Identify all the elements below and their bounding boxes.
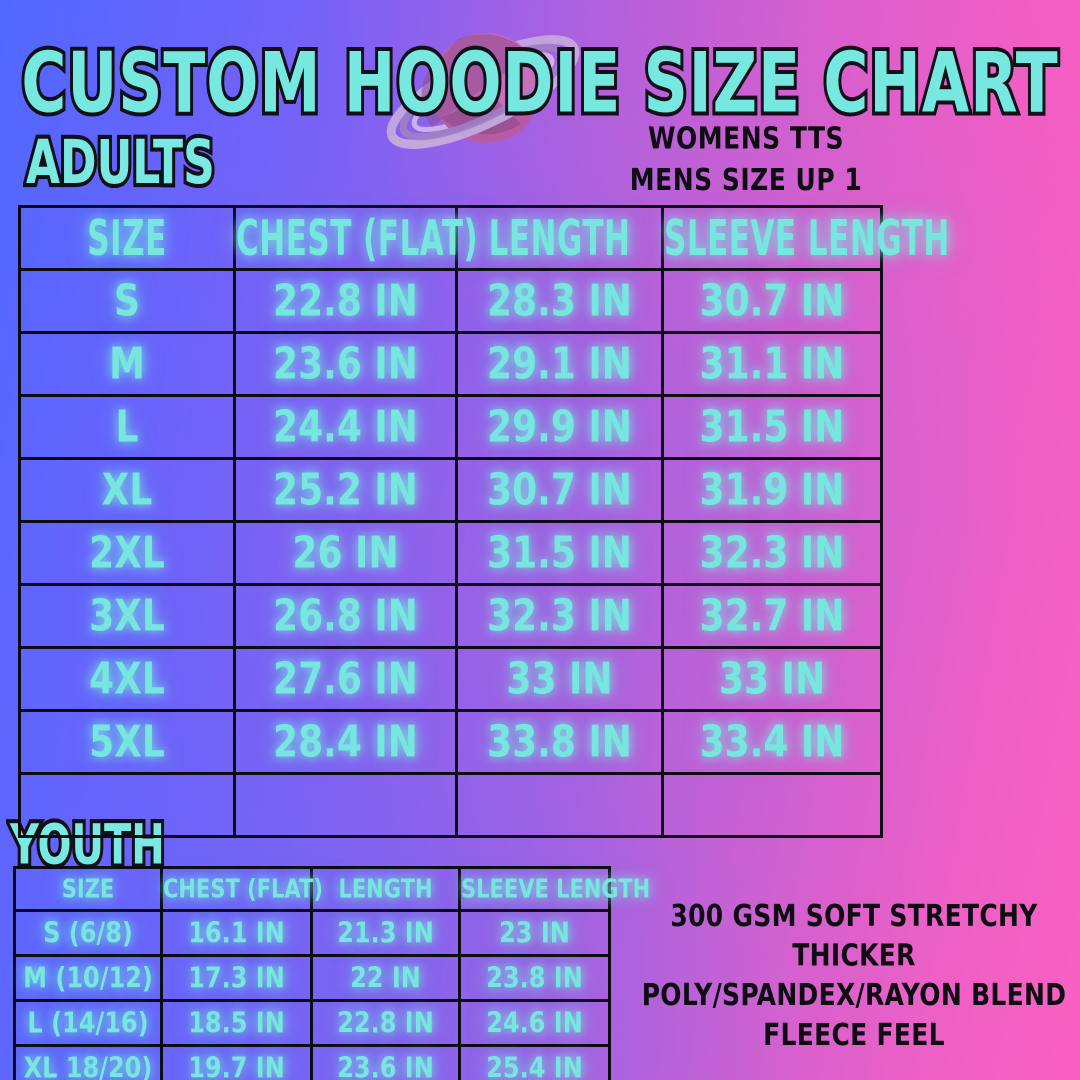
table-row-empty bbox=[20, 774, 882, 837]
cell-sleeve-length: 33 IN bbox=[663, 648, 882, 711]
cell-sleeve-length: 32.7 IN bbox=[663, 585, 882, 648]
fabric-line: POLY/SPANDEX/RAYON BLEND bbox=[628, 975, 1080, 1015]
cell-size: S (6/8) bbox=[15, 911, 162, 956]
cell-length: 29.9 IN bbox=[457, 396, 663, 459]
cell-chest: 25.2 IN bbox=[235, 459, 457, 522]
cell-length: 33 IN bbox=[457, 648, 663, 711]
table-row: 5XL28.4 IN33.8 IN33.4 IN bbox=[20, 711, 882, 774]
fit-notes: WOMENS TTS MENS SIZE UP 1 bbox=[596, 118, 896, 200]
cell-length bbox=[457, 774, 663, 837]
table-row: L (14/16)18.5 IN22.8 IN24.6 IN bbox=[15, 1001, 610, 1046]
table-row: XL25.2 IN30.7 IN31.9 IN bbox=[20, 459, 882, 522]
cell-size: L bbox=[20, 396, 235, 459]
cell-size: XL bbox=[20, 459, 235, 522]
table-row: M23.6 IN29.1 IN31.1 IN bbox=[20, 333, 882, 396]
adults-size-table: SIZE CHEST (FLAT) LENGTH SLEEVE LENGTH S… bbox=[18, 205, 883, 838]
cell-chest: 27.6 IN bbox=[235, 648, 457, 711]
cell-chest: 23.6 IN bbox=[235, 333, 457, 396]
cell-size: XL 18/20) bbox=[15, 1046, 162, 1080]
cell-sleeve-length bbox=[663, 774, 882, 837]
cell-size: 3XL bbox=[20, 585, 235, 648]
fabric-line: 300 GSM SOFT STRETCHY bbox=[628, 896, 1080, 936]
youth-size-table: SIZE CHEST (FLAT) LENGTH SLEEVE LENGTH S… bbox=[13, 866, 611, 1080]
column-header-length: LENGTH bbox=[312, 868, 460, 911]
size-chart-canvas: CUSTOM HOODIE SIZE CHART WOMENS TTS MENS… bbox=[0, 0, 1080, 1080]
cell-chest bbox=[235, 774, 457, 837]
cell-chest: 19.7 IN bbox=[162, 1046, 312, 1080]
table-header-row: SIZE CHEST (FLAT) LENGTH SLEEVE LENGTH bbox=[15, 868, 610, 911]
cell-chest: 24.4 IN bbox=[235, 396, 457, 459]
table-row: S22.8 IN28.3 IN30.7 IN bbox=[20, 270, 882, 333]
cell-sleeve-length: 25.4 IN bbox=[460, 1046, 610, 1080]
cell-length: 28.3 IN bbox=[457, 270, 663, 333]
cell-sleeve-length: 31.9 IN bbox=[663, 459, 882, 522]
adults-section-heading: ADULTS bbox=[26, 128, 215, 198]
column-header-size: SIZE bbox=[15, 868, 162, 911]
cell-chest: 26.8 IN bbox=[235, 585, 457, 648]
cell-chest: 26 IN bbox=[235, 522, 457, 585]
cell-length: 22.8 IN bbox=[312, 1001, 460, 1046]
table-row: 3XL26.8 IN32.3 IN32.7 IN bbox=[20, 585, 882, 648]
cell-sleeve-length: 31.1 IN bbox=[663, 333, 882, 396]
cell-chest: 22.8 IN bbox=[235, 270, 457, 333]
cell-size: M (10/12) bbox=[15, 956, 162, 1001]
cell-sleeve-length: 23.8 IN bbox=[460, 956, 610, 1001]
table-row: L24.4 IN29.9 IN31.5 IN bbox=[20, 396, 882, 459]
cell-chest: 16.1 IN bbox=[162, 911, 312, 956]
column-header-length: LENGTH bbox=[457, 199, 663, 278]
table-row: S (6/8)16.1 IN21.3 IN23 IN bbox=[15, 911, 610, 956]
table-header-row: SIZE CHEST (FLAT) LENGTH SLEEVE LENGTH bbox=[20, 207, 882, 270]
cell-chest: 18.5 IN bbox=[162, 1001, 312, 1046]
cell-sleeve-length: 24.6 IN bbox=[460, 1001, 610, 1046]
cell-length: 31.5 IN bbox=[457, 522, 663, 585]
cell-length: 23.6 IN bbox=[312, 1046, 460, 1080]
cell-sleeve-length: 31.5 IN bbox=[663, 396, 882, 459]
fit-note-mens: MENS SIZE UP 1 bbox=[596, 159, 896, 200]
fabric-info: 300 GSM SOFT STRETCHY THICKER POLY/SPAND… bbox=[628, 896, 1080, 1054]
cell-chest: 17.3 IN bbox=[162, 956, 312, 1001]
cell-length: 33.8 IN bbox=[457, 711, 663, 774]
cell-length: 21.3 IN bbox=[312, 911, 460, 956]
cell-size bbox=[20, 774, 235, 837]
cell-size: 5XL bbox=[20, 711, 235, 774]
cell-chest: 28.4 IN bbox=[235, 711, 457, 774]
fabric-line: THICKER bbox=[628, 936, 1080, 976]
fit-note-womens: WOMENS TTS bbox=[596, 118, 896, 159]
cell-size: 2XL bbox=[20, 522, 235, 585]
column-header-size: SIZE bbox=[20, 199, 235, 278]
cell-size: S bbox=[20, 270, 235, 333]
cell-length: 22 IN bbox=[312, 956, 460, 1001]
table-row: 4XL27.6 IN33 IN33 IN bbox=[20, 648, 882, 711]
cell-sleeve-length: 32.3 IN bbox=[663, 522, 882, 585]
cell-length: 32.3 IN bbox=[457, 585, 663, 648]
cell-size: M bbox=[20, 333, 235, 396]
page-title: CUSTOM HOODIE SIZE CHART bbox=[5, 34, 1074, 132]
column-header-chest: CHEST (FLAT) bbox=[235, 199, 457, 278]
cell-size: L (14/16) bbox=[15, 1001, 162, 1046]
cell-length: 29.1 IN bbox=[457, 333, 663, 396]
fabric-line: FLEECE FEEL bbox=[628, 1015, 1080, 1055]
cell-sleeve-length: 30.7 IN bbox=[663, 270, 882, 333]
table-row: 2XL26 IN31.5 IN32.3 IN bbox=[20, 522, 882, 585]
table-row: XL 18/20)19.7 IN23.6 IN25.4 IN bbox=[15, 1046, 610, 1080]
cell-length: 30.7 IN bbox=[457, 459, 663, 522]
column-header-chest: CHEST (FLAT) bbox=[162, 868, 312, 911]
column-header-sleeve-length: SLEEVE LENGTH bbox=[460, 868, 610, 911]
cell-sleeve-length: 33.4 IN bbox=[663, 711, 882, 774]
cell-size: 4XL bbox=[20, 648, 235, 711]
cell-sleeve-length: 23 IN bbox=[460, 911, 610, 956]
table-row: M (10/12)17.3 IN22 IN23.8 IN bbox=[15, 956, 610, 1001]
column-header-sleeve-length: SLEEVE LENGTH bbox=[663, 199, 882, 278]
